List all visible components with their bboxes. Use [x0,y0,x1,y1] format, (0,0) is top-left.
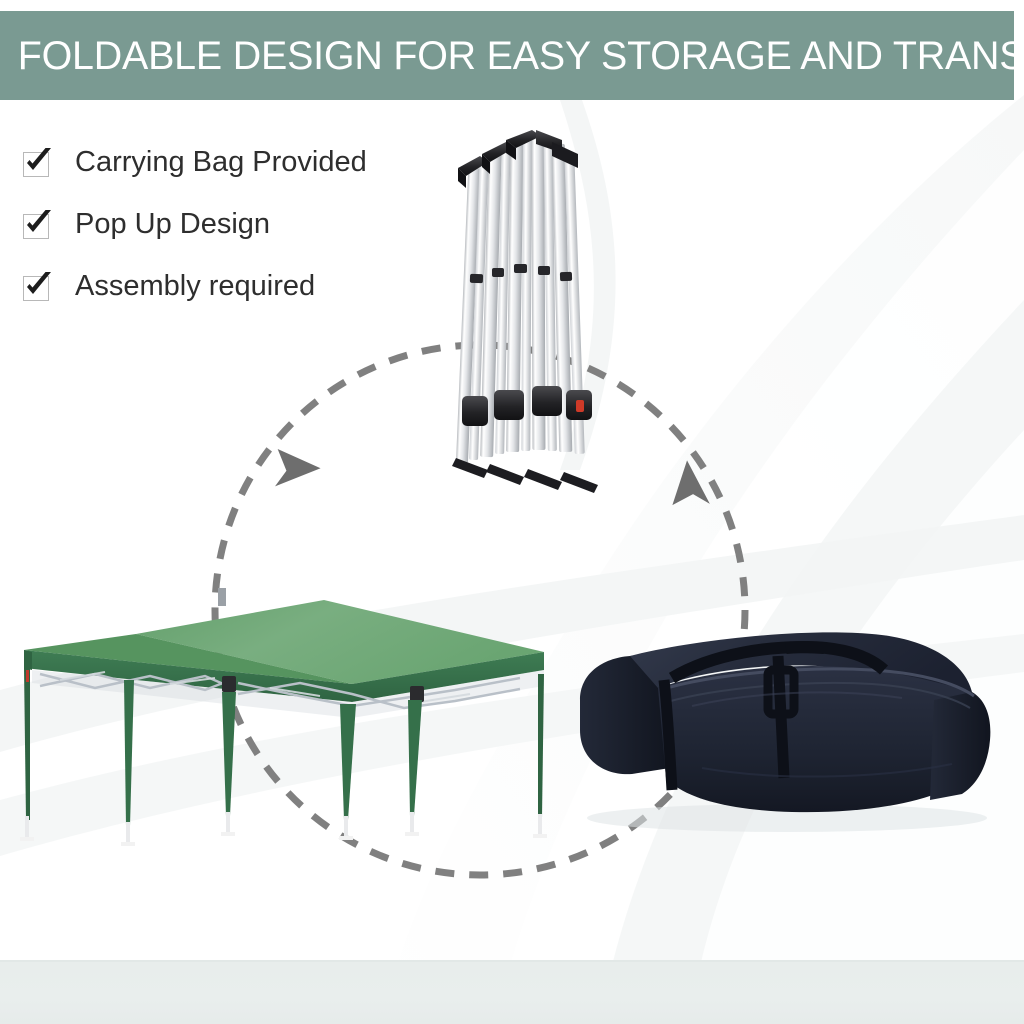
bottom-band-divider [0,960,1024,962]
arrowhead-right-icon [658,460,721,523]
green-pop-up-gazebo [0,588,566,850]
list-item: Pop Up Design [20,193,450,255]
checkbox-checked-icon [20,271,53,302]
bottom-band [0,962,1024,1024]
list-item: Assembly required [20,255,450,317]
page-title: FOLDABLE DESIGN FOR EASY STORAGE AND TRA… [0,36,1024,76]
dashed-circle-path [215,345,745,875]
list-item-label: Pop Up Design [75,210,270,239]
folded-aluminium-frame [440,128,620,508]
list-item-label: Carrying Bag Provided [75,148,367,177]
arrowhead-left-icon [258,436,321,499]
checkbox-checked-icon [20,209,53,240]
navy-carrying-bag [572,618,996,838]
zipper-seam [660,669,974,696]
bag-handle-straps [664,647,884,790]
feature-list: Carrying Bag Provided Pop Up Design Asse… [20,131,450,317]
release-button-accent [576,400,584,412]
checkmark-glyph [20,209,53,240]
checkmark-glyph [20,271,53,302]
product-infographic: FOLDABLE DESIGN FOR EASY STORAGE AND TRA… [0,0,1024,1024]
checkbox-checked-icon [20,147,53,178]
list-item: Carrying Bag Provided [20,131,450,193]
header-banner: FOLDABLE DESIGN FOR EASY STORAGE AND TRA… [0,11,1014,100]
dashed-cycle-arrows [190,320,770,900]
list-item-label: Assembly required [75,272,315,301]
checkmark-glyph [20,147,53,178]
